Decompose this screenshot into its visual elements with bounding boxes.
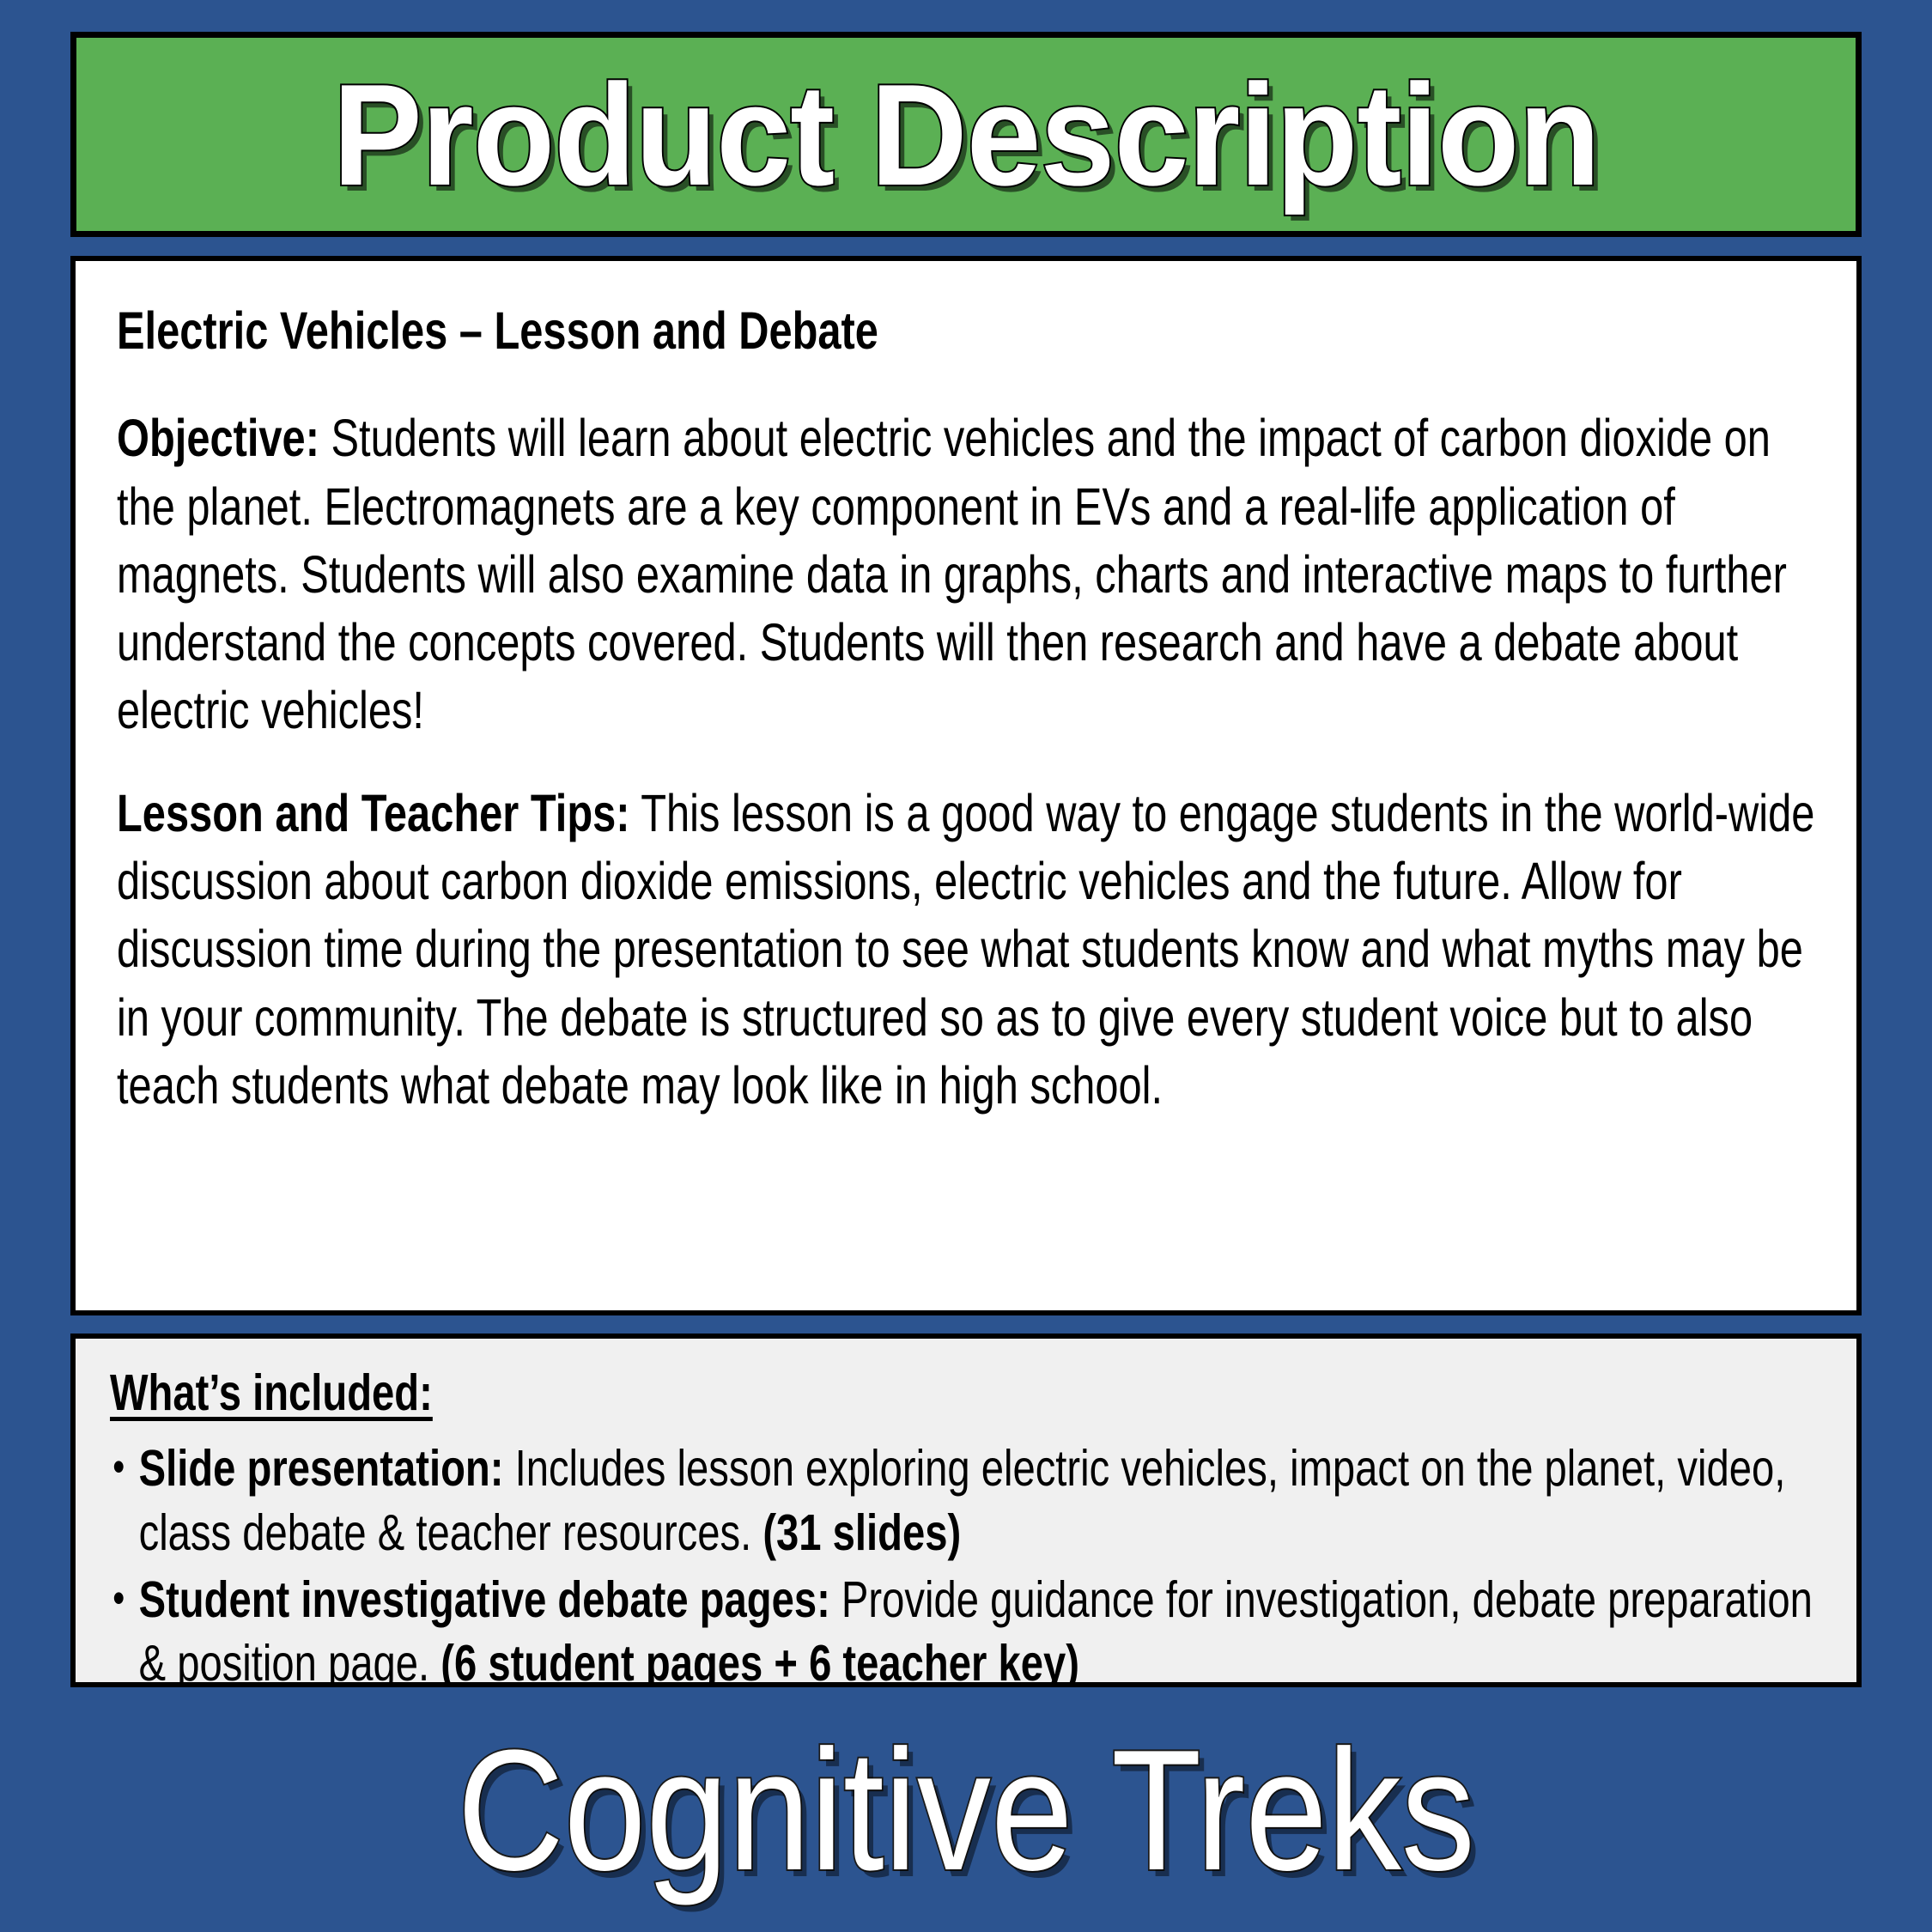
list-item: Student investigative debate pages: Prov…	[110, 1568, 1822, 1687]
teacher-tips-paragraph: Lesson and Teacher Tips: This lesson is …	[117, 780, 1815, 1120]
description-box: Electric Vehicles – Lesson and Debate Ob…	[70, 256, 1862, 1315]
whats-included-box: What’s included: Slide presentation: Inc…	[70, 1334, 1862, 1687]
description-text: Electric Vehicles – Lesson and Debate Ob…	[117, 297, 1815, 1120]
footer-brand-area: Cognitive Treks	[0, 1690, 1932, 1932]
included-item-count: (31 slides)	[762, 1504, 961, 1561]
objective-body: Students will learn about electric vehic…	[117, 409, 1787, 739]
header-banner: Product Description	[70, 32, 1862, 237]
list-item: Slide presentation: Includes lesson expl…	[110, 1437, 1822, 1564]
included-item-count: (6 student pages + 6 teacher key)	[440, 1635, 1079, 1687]
brand-name: Cognitive Treks	[457, 1725, 1474, 1897]
whats-included-text: What’s included: Slide presentation: Inc…	[110, 1361, 1822, 1687]
objective-paragraph: Objective: Students will learn about ele…	[117, 404, 1815, 744]
whats-included-heading: What’s included:	[110, 1361, 1822, 1425]
product-subtitle: Electric Vehicles – Lesson and Debate	[117, 297, 1815, 365]
included-item-label: Slide presentation:	[139, 1440, 504, 1497]
product-description-page: Product Description Electric Vehicles – …	[0, 0, 1932, 1932]
included-item-label: Student investigative debate pages:	[139, 1571, 830, 1628]
teacher-tips-label: Lesson and Teacher Tips:	[117, 784, 630, 842]
page-title: Product Description	[332, 63, 1599, 207]
objective-label: Objective:	[117, 409, 319, 467]
included-items-list: Slide presentation: Includes lesson expl…	[110, 1437, 1822, 1687]
